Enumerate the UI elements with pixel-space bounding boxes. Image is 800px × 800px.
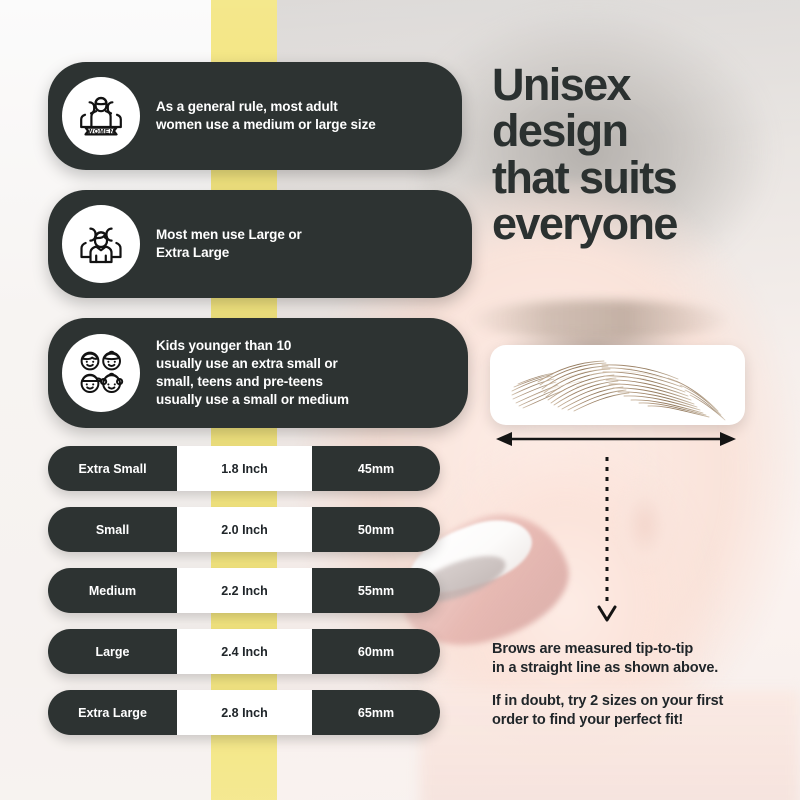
size-name: Extra Large [48, 690, 177, 735]
info-card-women: WOMEN As a general rule, most adult wome… [48, 62, 462, 170]
size-inch-cell: 2.0 Inch [177, 507, 312, 552]
table-row: Small 2.0 Inch 50mm [48, 507, 440, 552]
advice-caption: If in doubt, try 2 sizes on your first o… [492, 692, 723, 730]
size-inch-cell: 2.8 Inch [177, 690, 312, 735]
size-inch-cell: 2.2 Inch [177, 568, 312, 613]
caption2-line-1: If in doubt, try 2 sizes on your first [492, 692, 723, 711]
caption1-line-1: Brows are measured tip-to-tip [492, 640, 718, 659]
women-group-icon: WOMEN [62, 77, 140, 155]
headline-line-2: design [492, 108, 800, 154]
size-inch-cell: 2.4 Inch [177, 629, 312, 674]
info-card-kids: Kids younger than 10 usually use an extr… [48, 318, 468, 428]
size-inch: 1.8 Inch [221, 462, 268, 476]
size-name: Small [48, 507, 177, 552]
size-mm: 65mm [312, 690, 440, 735]
size-inch: 2.4 Inch [221, 645, 268, 659]
table-row: Medium 2.2 Inch 55mm [48, 568, 440, 613]
info-card-men: Most men use Large or Extra Large [48, 190, 472, 298]
info-card-kids-text: Kids younger than 10 usually use an extr… [156, 337, 349, 409]
headline-line-3: that suits [492, 155, 800, 201]
table-row: Large 2.4 Inch 60mm [48, 629, 440, 674]
card3-line-1: Kids younger than 10 [156, 337, 349, 355]
size-name: Extra Small [48, 446, 177, 491]
size-inch: 2.8 Inch [221, 706, 268, 720]
card3-line-4: usually use a small or medium [156, 391, 349, 409]
size-inch-cell: 1.8 Inch [177, 446, 312, 491]
size-name: Large [48, 629, 177, 674]
page-title: Unisex design that suits everyone [492, 62, 800, 247]
info-card-women-text: As a general rule, most adult women use … [156, 98, 376, 134]
headline-line-1: Unisex [492, 62, 800, 108]
size-inch: 2.2 Inch [221, 584, 268, 598]
infographic-canvas: Unisex design that suits everyone WOMEN [0, 0, 800, 800]
table-row: Extra Small 1.8 Inch 45mm [48, 446, 440, 491]
eyebrow-sample-card [490, 345, 745, 425]
size-inch: 2.0 Inch [221, 523, 268, 537]
headline-line-4: everyone [492, 201, 800, 247]
card1-line-2: women use a medium or large size [156, 116, 376, 134]
card2-line-1: Most men use Large or [156, 226, 302, 244]
info-card-men-text: Most men use Large or Extra Large [156, 226, 302, 262]
size-name: Medium [48, 568, 177, 613]
eyebrow-hair-image [490, 345, 745, 425]
tip-to-tip-measurement-arrow [494, 428, 738, 450]
card3-line-2: usually use an extra small or [156, 355, 349, 373]
card3-line-3: small, teens and pre-teens [156, 373, 349, 391]
caption2-line-2: order to find your perfect fit! [492, 711, 723, 730]
size-mm: 55mm [312, 568, 440, 613]
caption1-line-2: in a straight line as shown above. [492, 659, 718, 678]
measurement-caption: Brows are measured tip-to-tip in a strai… [492, 640, 718, 678]
card1-line-1: As a general rule, most adult [156, 98, 376, 116]
card2-line-2: Extra Large [156, 244, 302, 262]
size-mm: 60mm [312, 629, 440, 674]
svg-text:WOMEN: WOMEN [87, 128, 114, 135]
size-mm: 45mm [312, 446, 440, 491]
table-row: Extra Large 2.8 Inch 65mm [48, 690, 440, 735]
size-mm: 50mm [312, 507, 440, 552]
kids-faces-icon [62, 334, 140, 412]
men-group-icon [62, 205, 140, 283]
dashed-down-arrow [592, 455, 622, 625]
